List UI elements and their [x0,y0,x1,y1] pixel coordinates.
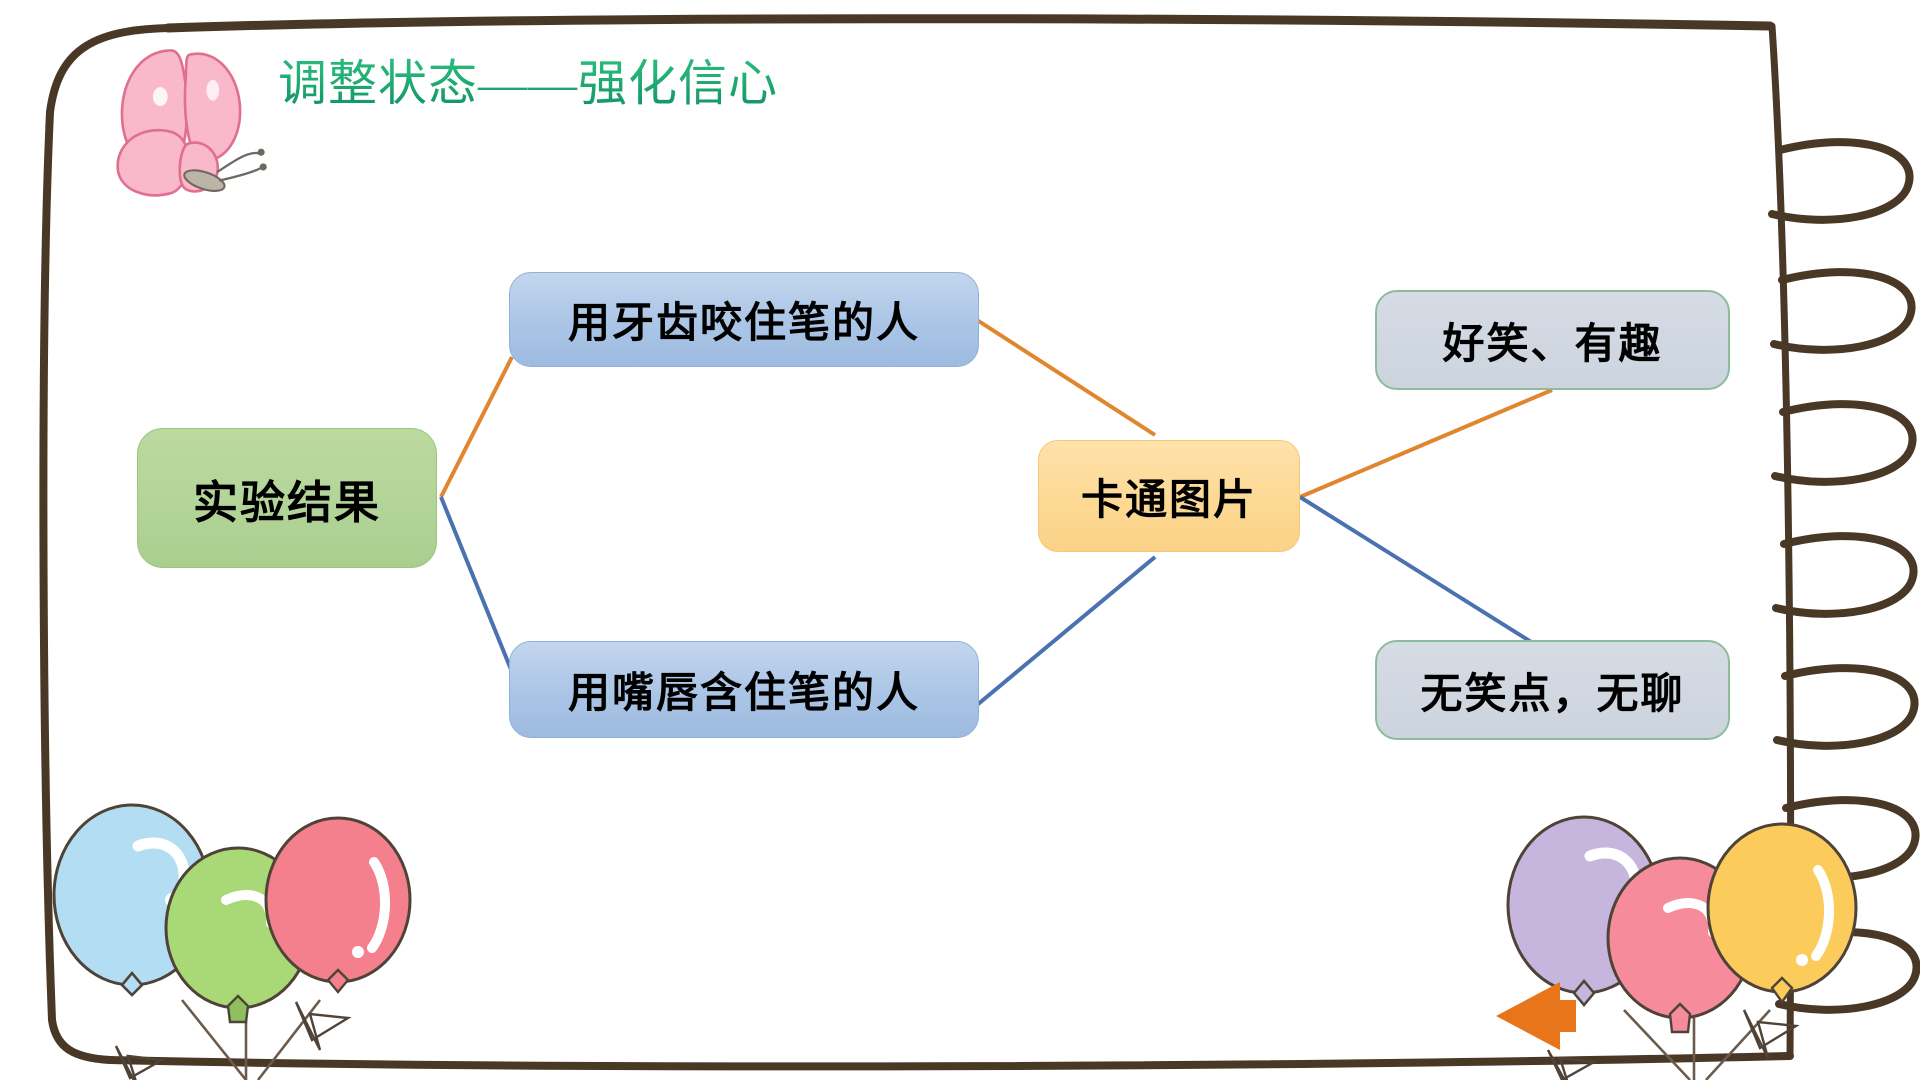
left-arrow-icon[interactable] [0,0,1920,1080]
slide-canvas: 调整状态——强化信心 实验结果 用牙齿咬住笔的人 用嘴唇含住笔的人 卡通图片 好… [0,0,1920,1080]
